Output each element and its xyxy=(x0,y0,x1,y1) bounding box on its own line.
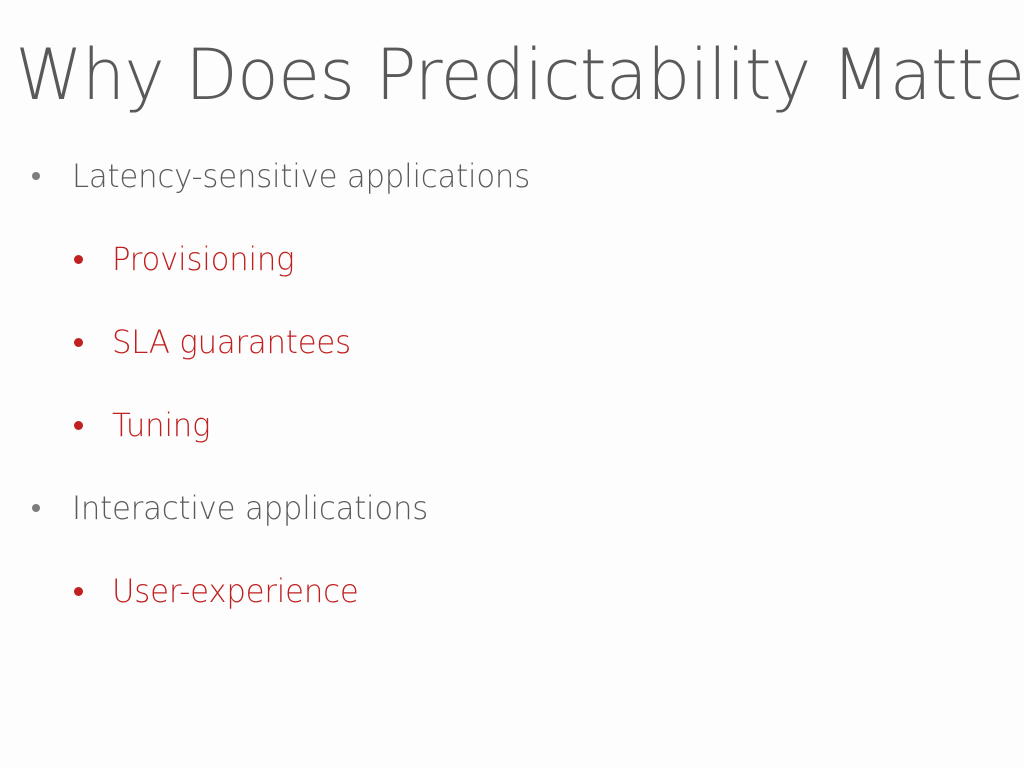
bullet-dot-icon xyxy=(74,255,83,264)
list-item: Latency-sensitive applications xyxy=(0,150,1024,233)
list-item-label: Latency-sensitive applications xyxy=(72,160,530,192)
bullet-list: Latency-sensitive applications Provision… xyxy=(0,150,1024,648)
presentation-slide: Why Does Predictability Matter? Latency-… xyxy=(0,0,1024,768)
page-title: Why Does Predictability Matter? xyxy=(15,40,1008,110)
list-item-label: Tuning xyxy=(112,409,210,441)
list-item-label: Provisioning xyxy=(112,243,294,275)
bullet-dot-icon xyxy=(74,338,83,347)
list-item-label: User-experience xyxy=(112,575,359,607)
bullet-dot-icon xyxy=(32,172,40,180)
list-item: Provisioning xyxy=(0,233,1024,316)
bullet-dot-icon xyxy=(74,421,83,430)
bullet-dot-icon xyxy=(32,504,40,512)
list-item: Tuning xyxy=(0,399,1024,482)
list-item-label: Interactive applications xyxy=(72,492,428,524)
bullet-dot-icon xyxy=(74,587,83,596)
list-item-label: SLA guarantees xyxy=(112,326,351,358)
list-item: SLA guarantees xyxy=(0,316,1024,399)
list-item: User-experience xyxy=(0,565,1024,648)
list-item: Interactive applications xyxy=(0,482,1024,565)
